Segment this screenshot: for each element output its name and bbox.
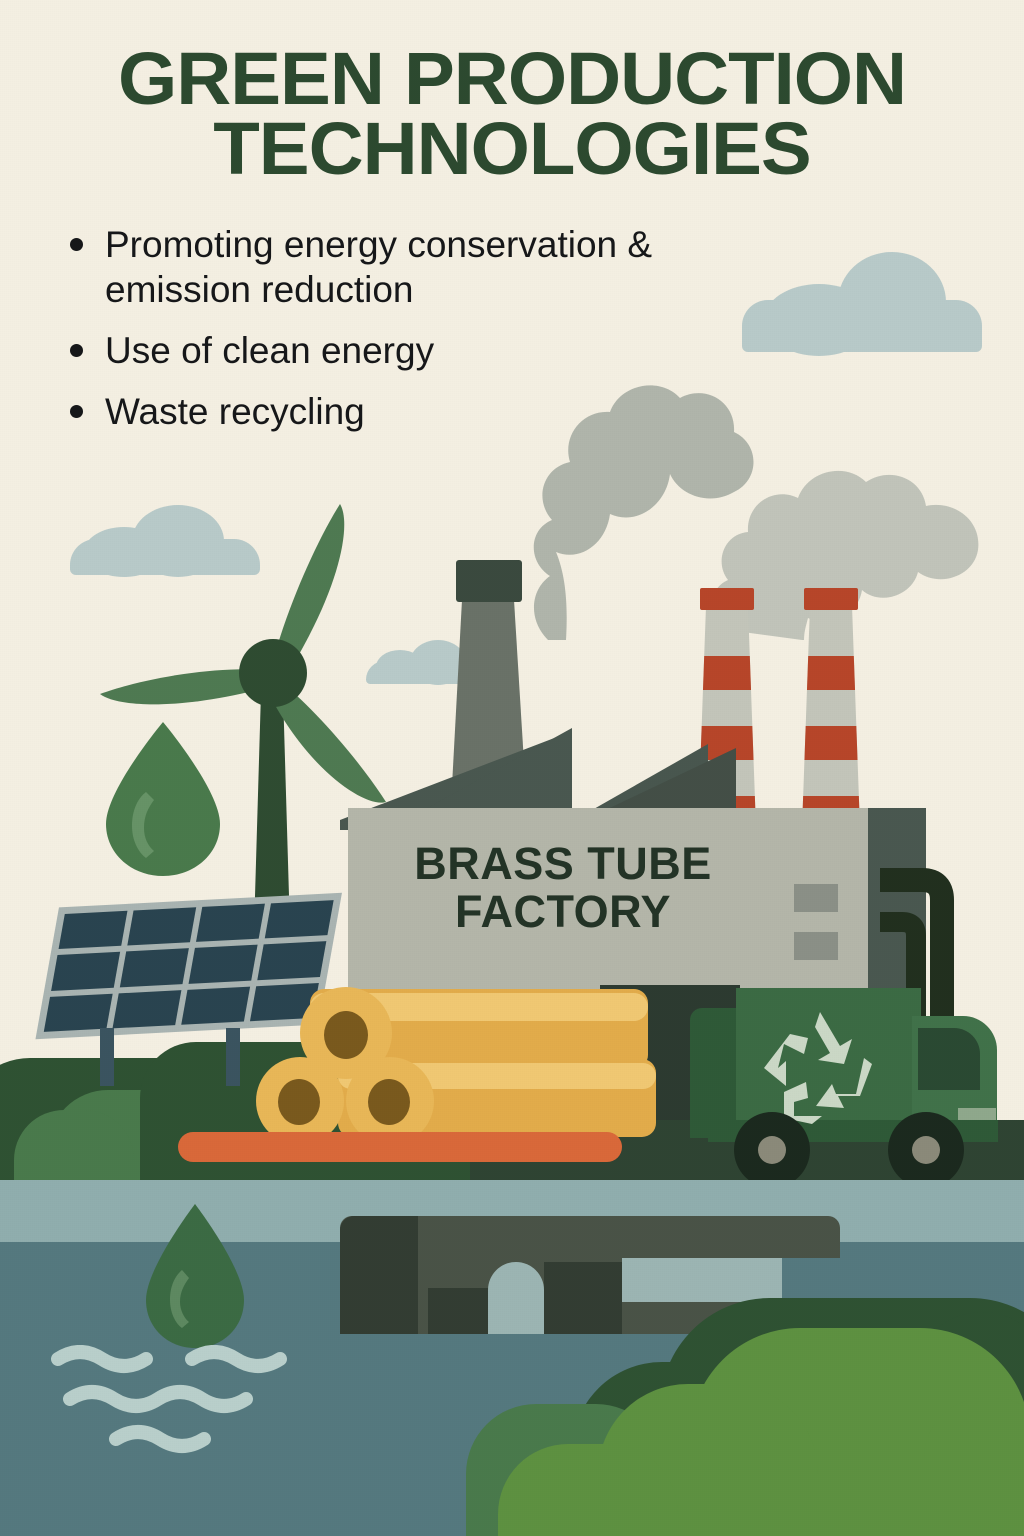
pier-pillar-mid [428,1288,488,1334]
list-item: Promoting energy conservation & emission… [62,222,802,312]
tube-platform [178,1132,622,1162]
factory-sign: BRASS TUBE FACTORY [348,840,778,960]
pier-right-extension [622,1258,782,1302]
solar-cell [59,911,128,950]
solar-cell [113,990,182,1029]
water-waves [50,1345,340,1465]
water-droplet-top [98,718,228,878]
solar-cell [189,945,258,984]
solar-cell [44,993,113,1032]
factory-sign-line-2: FACTORY [455,886,671,937]
brass-tube-bore [368,1079,410,1125]
foliage-bright-tiny [924,1398,1024,1536]
bullet-text: Use of clean energy [105,328,802,373]
recycling-truck [690,960,1010,1185]
truck-cab-window [918,1028,980,1090]
solar-panel-leg-right [226,1028,240,1086]
bush-left-mid-2 [14,1110,134,1190]
solar-cell [257,941,326,980]
bullet-list: Promoting energy conservation & emission… [62,222,802,451]
factory-sign-line-1: BRASS TUBE [414,838,712,889]
list-item: Use of clean energy [62,328,802,373]
truck-wheel-front-hub [912,1136,940,1164]
pier-arch-opening [488,1262,544,1334]
list-item: Waste recycling [62,389,802,434]
solar-cell [51,952,120,991]
bullet-text: Waste recycling [105,389,802,434]
brass-tube-bore [278,1079,320,1125]
solar-cell [265,900,334,939]
bullet-dot-icon [70,344,83,357]
page-title: GREEN PRODUCTION TECHNOLOGIES [0,44,1024,185]
truck-wheel-rear-hub [758,1136,786,1164]
title-line-2: TECHNOLOGIES [0,114,1024,184]
bullet-dot-icon [70,238,83,251]
title-line-1: GREEN PRODUCTION [0,44,1024,114]
poster-canvas: BRASS TUBE FACTORY [0,0,1024,1536]
brass-tube-stack [250,985,650,1150]
solar-cell [127,907,196,946]
factory-window-upper [794,884,838,912]
recycle-icon [760,1006,880,1124]
factory-window-lower [794,932,838,960]
pier-pillar-left [340,1216,418,1334]
solar-cell [181,986,250,1025]
solar-panel-leg-left [100,1028,114,1086]
pier-pillar-right [544,1262,622,1334]
bullet-text: Promoting energy conservation & emission… [105,222,802,312]
solar-cell [120,949,189,988]
water-droplet-river [140,1200,250,1350]
foliage-bright-far-left [498,1444,678,1536]
brass-tube-bore [324,1011,368,1059]
bullet-dot-icon [70,405,83,418]
solar-cell [196,904,265,943]
